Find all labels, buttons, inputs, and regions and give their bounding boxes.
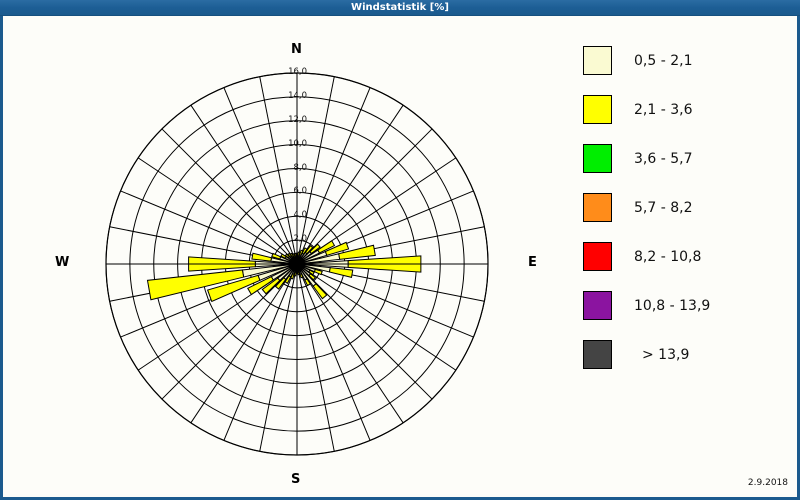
- compass-label-south: S: [291, 472, 300, 487]
- radial-tick-label: 16,0: [281, 67, 307, 77]
- legend: 0,5 - 2,12,1 - 3,63,6 - 5,75,7 - 8,28,2 …: [583, 36, 793, 379]
- legend-color-swatch: [583, 340, 612, 369]
- compass-label-north: N: [291, 42, 302, 57]
- legend-row: 0,5 - 2,1: [583, 36, 793, 85]
- legend-row: 3,6 - 5,7: [583, 134, 793, 183]
- wind-rose-svg: [3, 16, 573, 494]
- wind-rose-petals: [147, 241, 420, 302]
- date-stamp: 2.9.2018: [748, 478, 788, 488]
- radial-tick-label: 14,0: [281, 91, 307, 101]
- radial-tick-label: 12,0: [281, 115, 307, 125]
- legend-color-swatch: [583, 193, 612, 222]
- wind-rose-window: Windstatistik [%] N E S W 2,04,06,08,010…: [0, 0, 800, 500]
- legend-color-swatch: [583, 242, 612, 271]
- window-title-bar: Windstatistik [%]: [0, 0, 800, 16]
- legend-label: 2,1 - 3,6: [634, 102, 692, 118]
- legend-color-swatch: [583, 144, 612, 173]
- legend-label: 5,7 - 8,2: [634, 200, 692, 216]
- legend-row: 10,8 - 13,9: [583, 281, 793, 330]
- radial-tick-label: 10,0: [281, 139, 307, 149]
- window-title: Windstatistik [%]: [0, 0, 800, 15]
- compass-label-east: E: [528, 255, 537, 270]
- legend-label: 8,2 - 10,8: [634, 249, 701, 265]
- radial-tick-label: 8,0: [281, 163, 307, 173]
- legend-label: 3,6 - 5,7: [634, 151, 692, 167]
- legend-row: > 13,9: [583, 330, 793, 379]
- legend-row: 5,7 - 8,2: [583, 183, 793, 232]
- legend-label: 10,8 - 13,9: [634, 298, 710, 314]
- legend-color-swatch: [583, 291, 612, 320]
- legend-label: 0,5 - 2,1: [634, 53, 692, 69]
- legend-color-swatch: [583, 46, 612, 75]
- wind-rose-plot: N E S W 2,04,06,08,010,012,014,016,0: [3, 16, 573, 494]
- legend-row: 8,2 - 10,8: [583, 232, 793, 281]
- radial-tick-label: 2,0: [281, 234, 307, 244]
- legend-label: > 13,9: [642, 347, 689, 363]
- chart-canvas: N E S W 2,04,06,08,010,012,014,016,0 0,5…: [3, 16, 797, 494]
- legend-row: 2,1 - 3,6: [583, 85, 793, 134]
- radial-tick-label: 6,0: [281, 186, 307, 196]
- legend-color-swatch: [583, 95, 612, 124]
- compass-label-west: W: [55, 255, 69, 270]
- window-body: N E S W 2,04,06,08,010,012,014,016,0 0,5…: [0, 16, 800, 500]
- radial-tick-label: 4,0: [281, 210, 307, 220]
